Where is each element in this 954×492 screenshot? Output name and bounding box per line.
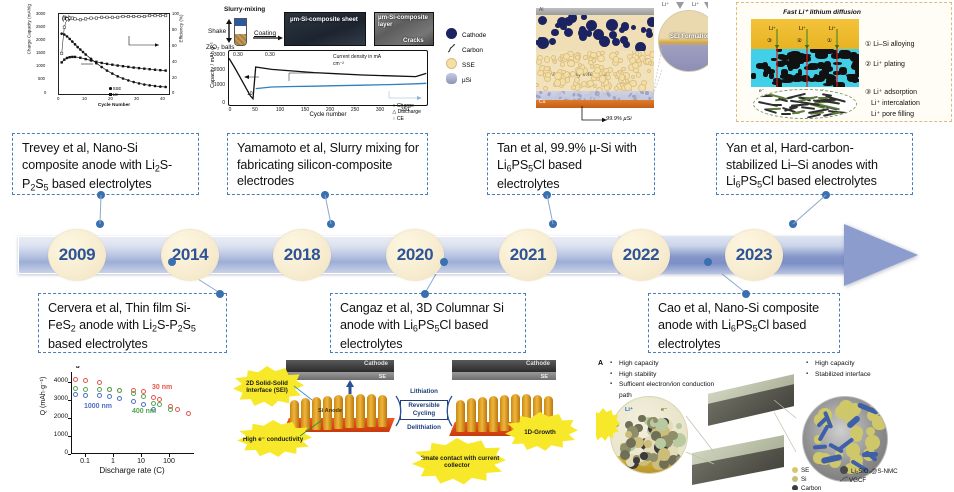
caption-text: Yamamoto et al, Slurry mixing for fabric… — [237, 141, 419, 188]
legend-label: Carbon — [462, 47, 483, 54]
caption-yamamoto: Yamamoto et al, Slurry mixing for fabric… — [227, 133, 428, 195]
ytick: 3000 — [206, 52, 225, 58]
sse-particle — [553, 60, 558, 65]
label-electron: e⁻ — [759, 89, 764, 94]
chart-trevey-y2label: Efficiency (%) — [179, 4, 184, 68]
ytick: 2000 — [36, 37, 45, 42]
si-sphere — [872, 416, 886, 430]
ytick: 2000 — [42, 413, 68, 420]
xtick: 100 — [157, 458, 181, 465]
purity-callout — [536, 106, 654, 122]
xtick: 10 — [129, 458, 153, 465]
connector-dot — [543, 191, 551, 199]
connector-dot — [168, 258, 176, 266]
legend-label: Cathode — [462, 32, 486, 39]
data-point — [141, 402, 146, 407]
sse-particle — [574, 77, 581, 84]
data-point — [83, 378, 88, 383]
connector-dot — [421, 290, 429, 298]
composite-particle — [625, 431, 632, 438]
label-delithiation: Delithiation — [396, 424, 452, 431]
cathode-particle — [623, 41, 630, 48]
cathode-slab-right: Cathode SE — [452, 360, 556, 380]
label-li-ion: Li⁺ — [829, 26, 836, 32]
caption-text: Tan et al, 99.9% µ-Si with Li6PS5Cl base… — [497, 141, 637, 191]
figure-yan-diffusion: Fast Li⁺ lithium diffusion Li⁺ Li⁺ Li⁺ ③… — [736, 2, 952, 122]
legend-label: µSi — [462, 77, 471, 84]
legend-label: Li₂SiO₄@S-NMC — [851, 468, 898, 475]
label-cracks: Cracks — [403, 37, 424, 44]
ytick: 1000 — [42, 431, 68, 438]
vgcf-swatch-icon — [840, 476, 849, 485]
data-point — [175, 407, 180, 412]
sse-particle — [606, 75, 611, 80]
chart-yamamoto-series — [229, 51, 429, 107]
composite-particle — [658, 448, 670, 460]
y2tick: 0 — [172, 90, 174, 95]
sse-particle — [581, 81, 587, 87]
xtick: 0.1 — [73, 458, 97, 465]
ytick: 1500 — [36, 50, 45, 55]
panel-label: A — [598, 360, 603, 367]
xtick: 200 — [322, 107, 338, 113]
figure-tan-cell-schematic: Cathode Carbon SSE µSi Al Passivating In… — [444, 2, 708, 122]
sse-particle — [575, 55, 579, 59]
caption-text: Cangaz et al, 3D Columnar Si anode with … — [340, 301, 504, 351]
sse-particle — [544, 56, 550, 62]
al-current-collector: Al — [536, 8, 654, 15]
caption-cao: Cao et al, Nano-Si composite anode with … — [648, 293, 840, 353]
composite-particle — [649, 453, 658, 462]
usi-swatch-icon — [446, 73, 457, 84]
hard-carbon-flake — [772, 104, 782, 106]
legend-label: SE — [801, 467, 809, 474]
xtick: 40 — [160, 96, 165, 101]
timeline-year-2022[interactable]: 2022 — [612, 229, 670, 281]
connector-dot — [440, 258, 448, 266]
data-point — [73, 386, 78, 391]
hard-carbon-flake — [781, 113, 791, 115]
marker-2: ② — [797, 38, 802, 44]
legend-label: VGCF — [849, 477, 866, 484]
data-point — [151, 401, 156, 406]
xtick: 10 — [82, 96, 87, 101]
chart-yamamoto-plot-area: 0.30 0.30 10 Current density in mA cm⁻² … — [228, 50, 428, 106]
data-point — [131, 399, 136, 404]
bullet-item: High capacity — [610, 359, 728, 370]
marker-3: ③ — [767, 38, 772, 44]
label-li-ion: Li⁺ — [692, 2, 699, 8]
sse-particle — [554, 72, 562, 80]
label-al: Al — [539, 7, 543, 13]
sse-swatch-icon — [446, 58, 457, 69]
data-point — [97, 393, 102, 398]
xtick: 0 — [57, 96, 59, 101]
figure-tan-legend: Cathode Carbon SSE µSi — [446, 28, 486, 88]
cathode-particle — [581, 15, 587, 20]
usi-particle — [645, 91, 649, 94]
label-reversible-cycling: Reversible Cycling — [400, 400, 448, 420]
sse-particle — [590, 64, 594, 68]
chart-cervera-rate: b Q (mAh·g⁻¹) Discharge rate (C) 0 1000 … — [24, 366, 224, 488]
composite-particle — [676, 456, 682, 462]
xtick: 150 — [297, 107, 313, 113]
caption-tan: Tan et al, 99.9% µ-Si with Li6PS5Cl base… — [487, 133, 655, 195]
cathode-particle — [619, 27, 625, 33]
cao-legend: SE Si Carbon — [792, 466, 821, 490]
data-point — [107, 394, 112, 399]
cao-composite-inset: Li⁺ e⁻ — [610, 396, 688, 474]
data-point — [157, 402, 162, 407]
micrograph-composite-layer: µm-Si-composite layer Cracks — [374, 12, 434, 46]
connector-dot — [97, 191, 105, 199]
caption-text: Trevey et al, Nano-Si composite anode wi… — [22, 141, 172, 191]
cao-legend-2: Li₂SiO₄@S-NMC VGCF — [840, 466, 898, 485]
cathode-particle — [647, 17, 654, 27]
ytick: 1000 — [36, 63, 45, 68]
timeline: 2009 2014 2018 2020 2021 2022 2023 — [18, 224, 936, 286]
sse-particle — [570, 71, 576, 77]
nmc-swatch-icon — [840, 466, 848, 474]
xtick: 50 — [247, 107, 263, 113]
ytick: 500 — [38, 76, 45, 81]
timeline-year-2018[interactable]: 2018 — [273, 229, 331, 281]
li-flux-arrow-icon — [676, 2, 684, 9]
chart-trevey-cycling: Charge Capacity (mAh/g) Efficiency (%) C… — [14, 4, 190, 120]
cathode-slab-left: Cathode SE — [286, 360, 394, 380]
data-point — [168, 407, 173, 412]
sse-particle — [638, 84, 646, 91]
legend-label: Carbon — [801, 485, 821, 490]
sse-particle — [544, 66, 549, 71]
chart-cervera-xlabel: Discharge rate (C) — [64, 466, 200, 475]
sse-particle — [554, 79, 561, 86]
sse-particle — [629, 57, 636, 64]
ytick: 1000 — [206, 82, 225, 88]
caption-cangaz: Cangaz et al, 3D Columnar Si anode with … — [330, 293, 526, 353]
yan-electrode-schematic: Li⁺ Li⁺ Li⁺ ③ ② ① — [751, 19, 859, 87]
vgcf-fiber — [813, 445, 827, 450]
carbon-swatch-icon — [792, 485, 798, 490]
ytick: 0 — [44, 90, 46, 95]
sse-particle — [624, 83, 632, 91]
legend-label: SSE — [462, 62, 475, 69]
si-sphere — [835, 405, 848, 418]
yan-step-5: Li⁺ pore filling — [871, 109, 914, 120]
connector-dot — [704, 258, 712, 266]
timeline-year-2020[interactable]: 2020 — [386, 229, 444, 281]
timeline-arrowhead-icon — [844, 224, 918, 286]
label-cathode: Cathode — [364, 361, 388, 367]
label-sei-formation: SEI Formation — [670, 34, 708, 40]
y2tick: 20 — [172, 75, 177, 80]
data-point — [117, 388, 122, 393]
data-point — [186, 411, 191, 416]
caption-cervera: Cervera et al, Thin film Si-FeS2 anode w… — [38, 293, 227, 353]
label-cu: Cu — [539, 99, 545, 105]
ytick: 0 — [42, 449, 68, 456]
data-point — [83, 393, 88, 398]
sse-particle — [635, 51, 639, 55]
label-li-ion: Li⁺ — [625, 407, 633, 413]
cathode-particle — [549, 38, 556, 45]
usi-particle — [601, 92, 607, 98]
se-swatch-icon — [792, 467, 798, 473]
ytick: 2500 — [36, 24, 45, 29]
timeline-year-2014[interactable]: 2014 — [161, 229, 219, 281]
legend-label: Discharge — [398, 109, 421, 115]
cathode-particle — [606, 22, 613, 29]
ytick: 2000 — [206, 67, 225, 73]
annotation-30nm: 30 nm — [152, 384, 172, 391]
timeline-year-2023[interactable]: 2023 — [725, 229, 783, 281]
label-purity: 99.9% µSi — [606, 116, 632, 122]
data-point — [97, 380, 102, 385]
sse-particle — [567, 60, 574, 67]
ytick: 3000 — [42, 395, 68, 402]
label-li-ion: Li⁺ — [662, 2, 669, 8]
label-lithiation: Lithiation — [398, 388, 450, 395]
chart-yamamoto-ylabel: Capacity / mAh g⁻¹ — [210, 32, 216, 98]
sei-zoom-inset: SEI Formation — [658, 10, 708, 72]
timeline-year-2009[interactable]: 2009 — [48, 229, 106, 281]
chart-trevey-series — [59, 14, 171, 96]
ytick: 4000 — [42, 377, 68, 384]
cathode-particle — [551, 29, 559, 37]
data-point — [131, 391, 136, 396]
hard-carbon-flake — [792, 112, 800, 115]
xtick: 300 — [372, 107, 388, 113]
chart-trevey-ylabel: Charge Capacity (mAh/g) — [27, 4, 32, 68]
connector-dot — [321, 191, 329, 199]
chart-trevey-plot-area: (b) SSE LE — [58, 13, 170, 95]
cell-stack-diagram: Al Passivating Interface Cu 99.9% µSi — [536, 8, 654, 114]
annotation-400nm: 400 nm — [132, 408, 156, 415]
y2tick: 80 — [172, 27, 177, 32]
ytick: 0 — [206, 100, 225, 106]
sse-particle — [561, 70, 566, 75]
yan-step-3: ③ Li⁺ adsorption — [865, 87, 917, 98]
yan-title: Fast Li⁺ lithium diffusion — [747, 8, 897, 16]
cathode-particle — [635, 42, 646, 51]
legend-label: CE — [397, 116, 404, 122]
data-point — [97, 387, 102, 392]
label-si-anode: Si Anode — [318, 408, 342, 414]
yan-step-2: ② Li⁺ plating — [865, 59, 905, 70]
label-se: SE — [541, 374, 548, 380]
y2tick: 100 — [172, 11, 179, 16]
micrograph-composite-sheet: µm-Si-composite sheet — [284, 12, 366, 46]
xtick: 30 — [134, 96, 139, 101]
xtick: 250 — [347, 107, 363, 113]
sse-particle — [619, 74, 625, 80]
si-swatch-icon — [792, 476, 798, 482]
usi-particle — [636, 94, 641, 98]
bullet-item: High stability — [610, 370, 728, 381]
cathode-particle — [560, 24, 566, 30]
sse-particle — [636, 72, 641, 77]
sse-particle — [647, 69, 652, 74]
bullet-item: High capacity — [806, 359, 916, 370]
data-point — [73, 392, 78, 397]
caption-text: Cao et al, Nano-Si composite anode with … — [658, 301, 819, 351]
label-cathode: Cathode — [526, 361, 550, 367]
cathode-particle — [631, 25, 636, 30]
label-li-ion: Li⁺ — [799, 26, 806, 32]
si-sphere — [865, 435, 880, 450]
composite-particle — [640, 452, 648, 460]
data-point — [107, 387, 112, 392]
vgcf-fiber — [817, 425, 829, 442]
legend-label: Si — [801, 476, 807, 483]
caption-text: Yan et al, Hard-carbon-stabilized Li–Si … — [726, 141, 878, 188]
data-point — [141, 394, 146, 399]
caption-yan: Yan et al, Hard-carbon-stabilized Li–Si … — [716, 133, 913, 195]
xtick: 100 — [272, 107, 288, 113]
marker-1: ① — [827, 38, 832, 44]
y2tick: 40 — [172, 59, 177, 64]
hard-carbon-flake — [801, 106, 815, 110]
figure-canvas: Charge Capacity (mAh/g) Efficiency (%) C… — [0, 0, 954, 492]
data-point — [117, 396, 122, 401]
bullet-item: Stabilized interface — [806, 370, 916, 381]
annotation-1000nm: 1000 nm — [84, 403, 112, 410]
caption-trevey: Trevey et al, Nano-Si composite anode wi… — [12, 133, 199, 195]
data-point — [141, 389, 146, 394]
label-li-ion: Li⁺ — [769, 26, 776, 32]
ytick: 3000 — [36, 11, 45, 16]
sse-particle — [600, 51, 605, 55]
timeline-year-2021[interactable]: 2021 — [499, 229, 557, 281]
yan-hard-carbon-inset — [753, 89, 857, 119]
caption-text: Cervera et al, Thin film Si-FeS2 anode w… — [48, 301, 196, 351]
connector-dot — [822, 191, 830, 199]
sse-particle — [648, 61, 652, 65]
sse-particle — [631, 75, 635, 79]
composite-particle — [676, 423, 682, 429]
panel-label: b — [76, 366, 80, 370]
label-composite-layer: µm-Si-composite layer — [378, 15, 432, 28]
data-point — [73, 377, 78, 382]
data-point — [83, 387, 88, 392]
hard-carbon-flake — [791, 103, 809, 106]
figure-yamamoto-slurry: Slurry-mixing Shake ZrO₂ balls Coating µ… — [206, 2, 436, 122]
cathode-particle — [538, 16, 547, 25]
cathode-particle — [612, 38, 620, 46]
cathode-particle — [568, 15, 578, 23]
sse-particle — [536, 83, 539, 87]
sse-particle — [599, 75, 606, 82]
cathode-swatch-icon — [446, 28, 457, 39]
sse-layer: Passivating Interface — [536, 51, 654, 91]
yan-step-4: Li⁺ intercalation — [871, 98, 920, 109]
cathode-layer — [536, 15, 654, 51]
connector-dot — [216, 290, 224, 298]
xtick: 0 — [222, 107, 238, 113]
connector-dot — [742, 290, 750, 298]
cathode-particle — [646, 28, 652, 34]
label-electron: e⁻ — [661, 407, 667, 413]
sse-particle — [576, 68, 583, 75]
figure-cao-composite: A High capacity High stability Sufficent… — [596, 356, 952, 490]
sse-particle — [560, 62, 564, 66]
xtick: 1 — [101, 458, 125, 465]
label-se: SE — [379, 374, 386, 380]
y2tick: 60 — [172, 43, 177, 48]
cao-bullets-right: High capacity Stabilized interface — [806, 359, 916, 380]
data-point — [157, 397, 162, 402]
label-composite-sheet: µm-Si-composite sheet — [290, 16, 358, 23]
burst-intimate-contact: Intimate contact with current collector — [408, 438, 506, 486]
carbon-swatch-icon — [446, 43, 457, 54]
sse-particle — [590, 52, 596, 58]
chart-trevey-xlabel: Cycle Number — [58, 103, 170, 108]
composite-particle — [620, 450, 630, 460]
li-flux-arrow-icon — [704, 2, 708, 9]
yan-step-1: ① Li–Si alloying — [865, 39, 914, 50]
data-point — [151, 395, 156, 400]
figure-cangaz-columnar: Cathode SE Si Anode 2D Solid-Solid Inter… — [230, 356, 586, 490]
